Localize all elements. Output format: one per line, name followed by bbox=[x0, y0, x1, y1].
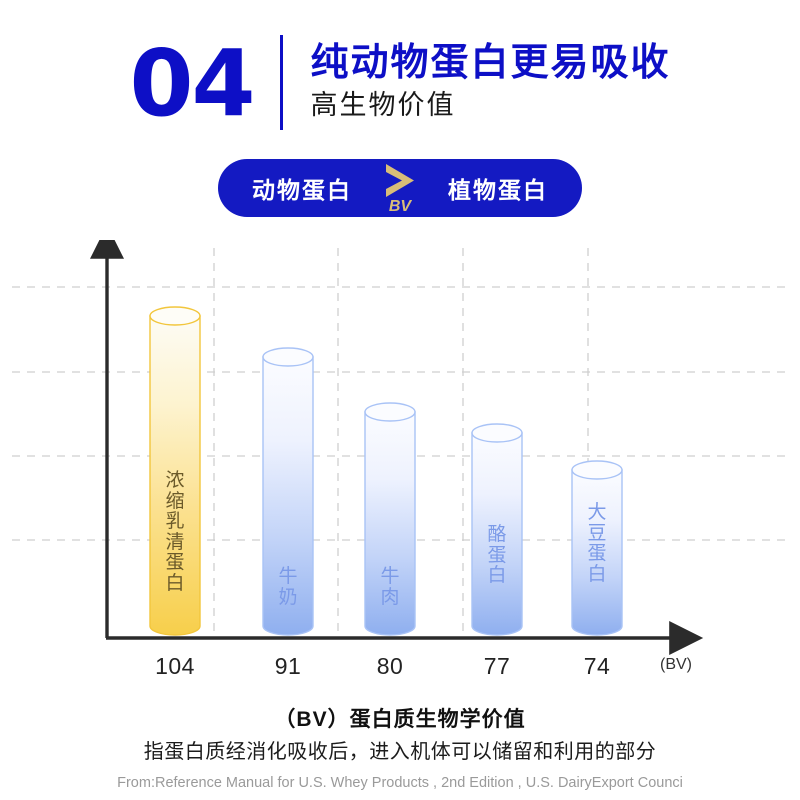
x-axis-unit-label: (BV) bbox=[660, 656, 692, 674]
footnote-title: （BV）蛋白质生物学价值 bbox=[0, 706, 800, 734]
bar-cylinder-2 bbox=[263, 348, 313, 635]
bar-cylinder-4 bbox=[472, 424, 522, 635]
page-title: 纯动物蛋白更易吸收 bbox=[311, 43, 671, 85]
infographic-page: 04 纯动物蛋白更易吸收 高生物价值 动物蛋白 BV 植物蛋白 bbox=[0, 0, 800, 800]
badge-left-label: 动物蛋白 bbox=[252, 171, 352, 205]
header-text-group: 纯动物蛋白更易吸收 高生物价值 bbox=[311, 43, 671, 120]
chart-canvas bbox=[0, 240, 800, 690]
header-divider bbox=[280, 35, 283, 130]
tick-value-1: 104 bbox=[130, 653, 220, 680]
footnote-description: 指蛋白质经消化吸收后，进入机体可以储留和利用的部分 bbox=[0, 737, 800, 767]
tick-value-5: 74 bbox=[552, 653, 642, 680]
comparison-badge-wrapper: 动物蛋白 BV 植物蛋白 bbox=[0, 159, 800, 217]
badge-right-label: 植物蛋白 bbox=[448, 171, 548, 205]
bv-bar-chart: 浓缩乳清蛋白 牛奶 牛肉 酪蛋白 大豆蛋白 bbox=[0, 240, 800, 690]
comparison-badge: 动物蛋白 BV 植物蛋白 bbox=[218, 159, 582, 217]
bar-cylinder-1 bbox=[150, 307, 200, 635]
tick-value-4: 77 bbox=[452, 653, 542, 680]
header-inner: 04 纯动物蛋白更易吸收 高生物价值 bbox=[129, 35, 670, 130]
page-subtitle: 高生物价值 bbox=[311, 91, 671, 121]
chart-footnote: （BV）蛋白质生物学价值 指蛋白质经消化吸收后，进入机体可以储留和利用的部分 F… bbox=[0, 706, 800, 794]
badge-comparator-caption: BV bbox=[378, 199, 422, 215]
tick-value-2: 91 bbox=[243, 653, 333, 680]
page-header: 04 纯动物蛋白更易吸收 高生物价值 bbox=[0, 22, 800, 142]
bar-cylinder-3 bbox=[365, 403, 415, 635]
section-number: 04 bbox=[129, 38, 279, 130]
greater-than-chevron-icon: BV bbox=[378, 162, 422, 214]
footnote-source: From:Reference Manual for U.S. Whey Prod… bbox=[0, 773, 800, 793]
bar-cylinder-5 bbox=[572, 461, 622, 635]
tick-value-3: 80 bbox=[345, 653, 435, 680]
